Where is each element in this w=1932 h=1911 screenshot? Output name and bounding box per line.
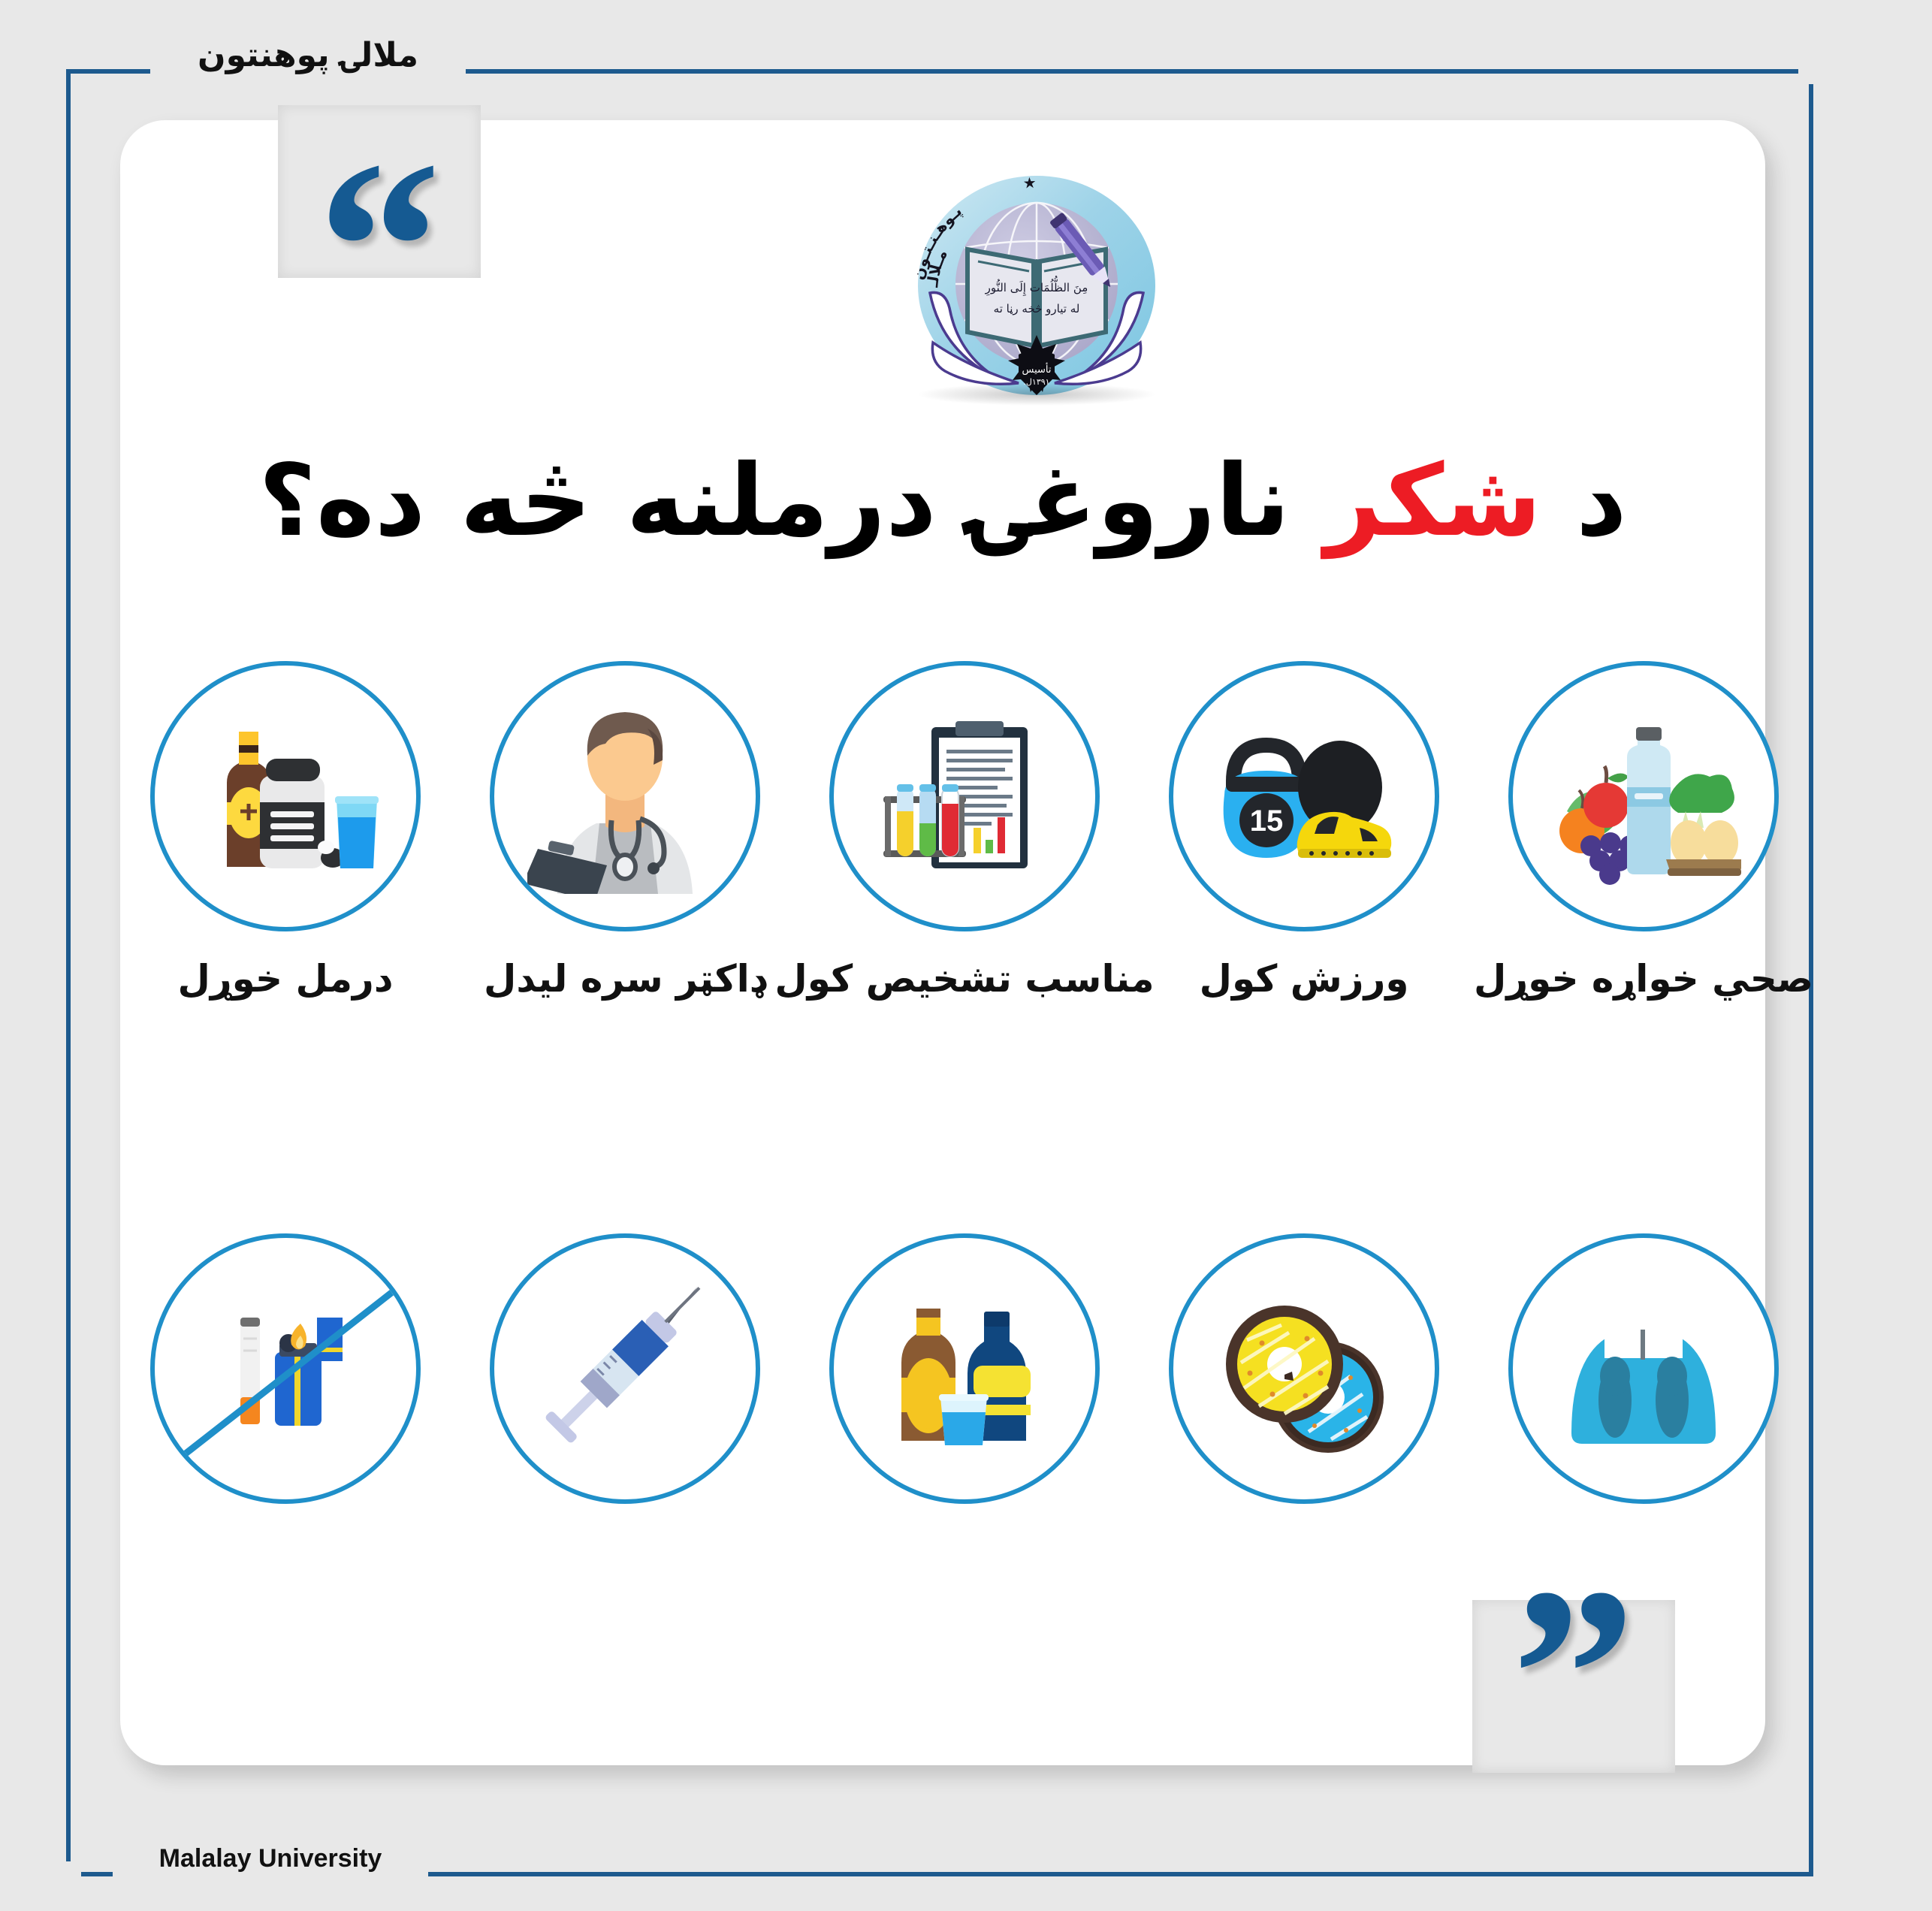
icon-row-2 bbox=[150, 1233, 1833, 1529]
footer-university-name: Malalay University bbox=[113, 1844, 428, 1873]
quote-close-icon: ” bbox=[1512, 1551, 1636, 1799]
icon-circle-medicine bbox=[150, 661, 421, 931]
title-part-2: ناروغۍ درملنه څه ده؟ bbox=[258, 443, 1324, 559]
quote-mark-open-box: “ bbox=[278, 105, 481, 278]
icon-circle-diagnosis bbox=[829, 661, 1100, 931]
label-diagnosis: مناسب تشخیص کول bbox=[774, 957, 1154, 1001]
icon-circle-doctor bbox=[490, 661, 760, 931]
icon-circle-no-smoking bbox=[150, 1233, 421, 1504]
weight-scale-icon bbox=[1546, 1271, 1741, 1466]
icon-circle-healthy-food bbox=[1508, 661, 1779, 931]
logo-drop-shadow bbox=[916, 383, 1157, 406]
lab-test-icon bbox=[867, 699, 1062, 894]
no-alcohol-icon bbox=[867, 1271, 1062, 1466]
no-smoking-icon bbox=[188, 1271, 383, 1466]
doctor-icon bbox=[527, 699, 723, 894]
grid-cell-insulin[interactable] bbox=[490, 1233, 760, 1529]
university-logo: مِنَ الظُّلُمَات إِلَى النُّورِ له تیارو… bbox=[886, 165, 1187, 406]
header-university-name: ملالۍ پوهنتون bbox=[150, 36, 466, 74]
grid-cell-sweets[interactable] bbox=[1169, 1233, 1439, 1529]
title-highlight: شکر bbox=[1324, 443, 1541, 559]
grid-cell-healthy-food[interactable]: صحي خواړه خوړل bbox=[1508, 661, 1779, 1001]
icon-circle-insulin bbox=[490, 1233, 760, 1504]
quote-mark-close-box: ” bbox=[1472, 1600, 1675, 1773]
icon-circle-sweets bbox=[1169, 1233, 1439, 1504]
icon-circle-alcohol bbox=[829, 1233, 1100, 1504]
university-logo-icon: مِنَ الظُّلُمَات إِلَى النُّورِ له تیارو… bbox=[886, 165, 1187, 406]
quote-open-icon: “ bbox=[318, 124, 442, 372]
icon-circle-weight bbox=[1508, 1233, 1779, 1504]
grid-cell-weight[interactable] bbox=[1508, 1233, 1779, 1529]
treatment-icon-grid: درمل خوړل bbox=[150, 661, 1833, 1529]
logo-rim-star: ★ bbox=[1022, 174, 1037, 192]
grid-cell-exercise[interactable]: 15 ورزش کول bbox=[1169, 661, 1439, 1001]
grid-cell-alcohol[interactable] bbox=[829, 1233, 1100, 1529]
kettlebell-weight-text: 15 bbox=[1250, 805, 1284, 838]
medicine-bottle-icon bbox=[188, 699, 383, 894]
label-healthy-food: صحي خواړه خوړل bbox=[1474, 957, 1813, 1001]
page-title: د شکر ناروغۍ درملنه څه ده؟ bbox=[120, 439, 1765, 563]
label-doctor: ډاکټر سره لیدل bbox=[484, 957, 766, 1001]
icon-row-1: درمل خوړل bbox=[150, 661, 1833, 1001]
poster-root: ملالۍ پوهنتون Malalay University “ ” bbox=[0, 0, 1932, 1911]
grid-cell-diagnosis[interactable]: مناسب تشخیص کول bbox=[829, 661, 1100, 1001]
icon-circle-exercise: 15 bbox=[1169, 661, 1439, 931]
label-medicine: درمل خوړل bbox=[178, 957, 394, 1001]
label-exercise: ورزش کول bbox=[1200, 957, 1409, 1001]
exercise-icon: 15 bbox=[1206, 699, 1402, 894]
grid-cell-medicine[interactable]: درمل خوړل bbox=[150, 661, 421, 1001]
grid-cell-doctor[interactable]: ډاکټر سره لیدل bbox=[490, 661, 760, 1001]
logo-book-pashto: له تیارو څخه رڼا ته bbox=[994, 302, 1080, 315]
donuts-icon bbox=[1206, 1271, 1402, 1466]
syringe-icon bbox=[527, 1271, 723, 1466]
healthy-food-icon bbox=[1546, 699, 1741, 894]
grid-cell-no-smoking[interactable] bbox=[150, 1233, 421, 1529]
logo-founded-label: تأسیس bbox=[1022, 362, 1052, 376]
title-part-1: د bbox=[1541, 443, 1627, 559]
